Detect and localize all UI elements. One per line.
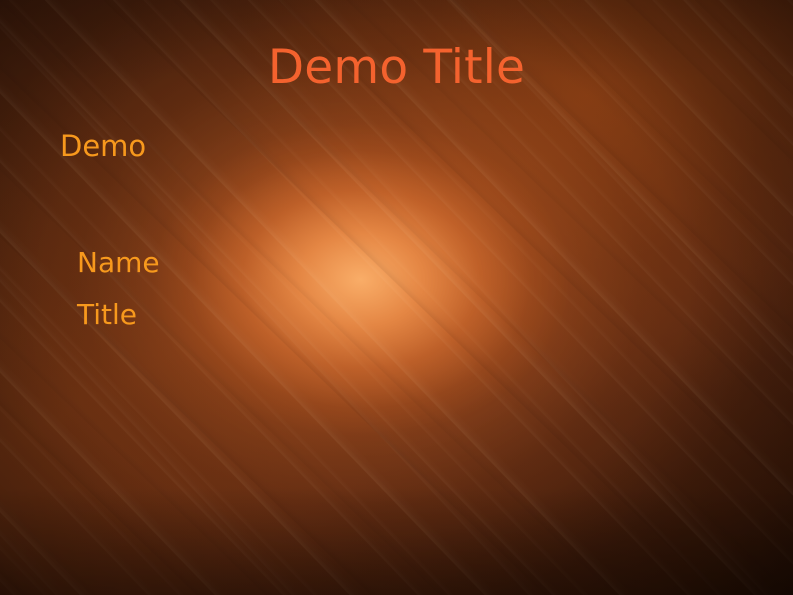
presenter-title: Title — [77, 298, 137, 332]
presenter-name: Name — [77, 246, 160, 280]
presentation-slide: Demo Title Demo Name Title — [0, 0, 793, 595]
slide-subtitle: Demo — [60, 129, 146, 164]
slide-title: Demo Title — [0, 40, 793, 95]
